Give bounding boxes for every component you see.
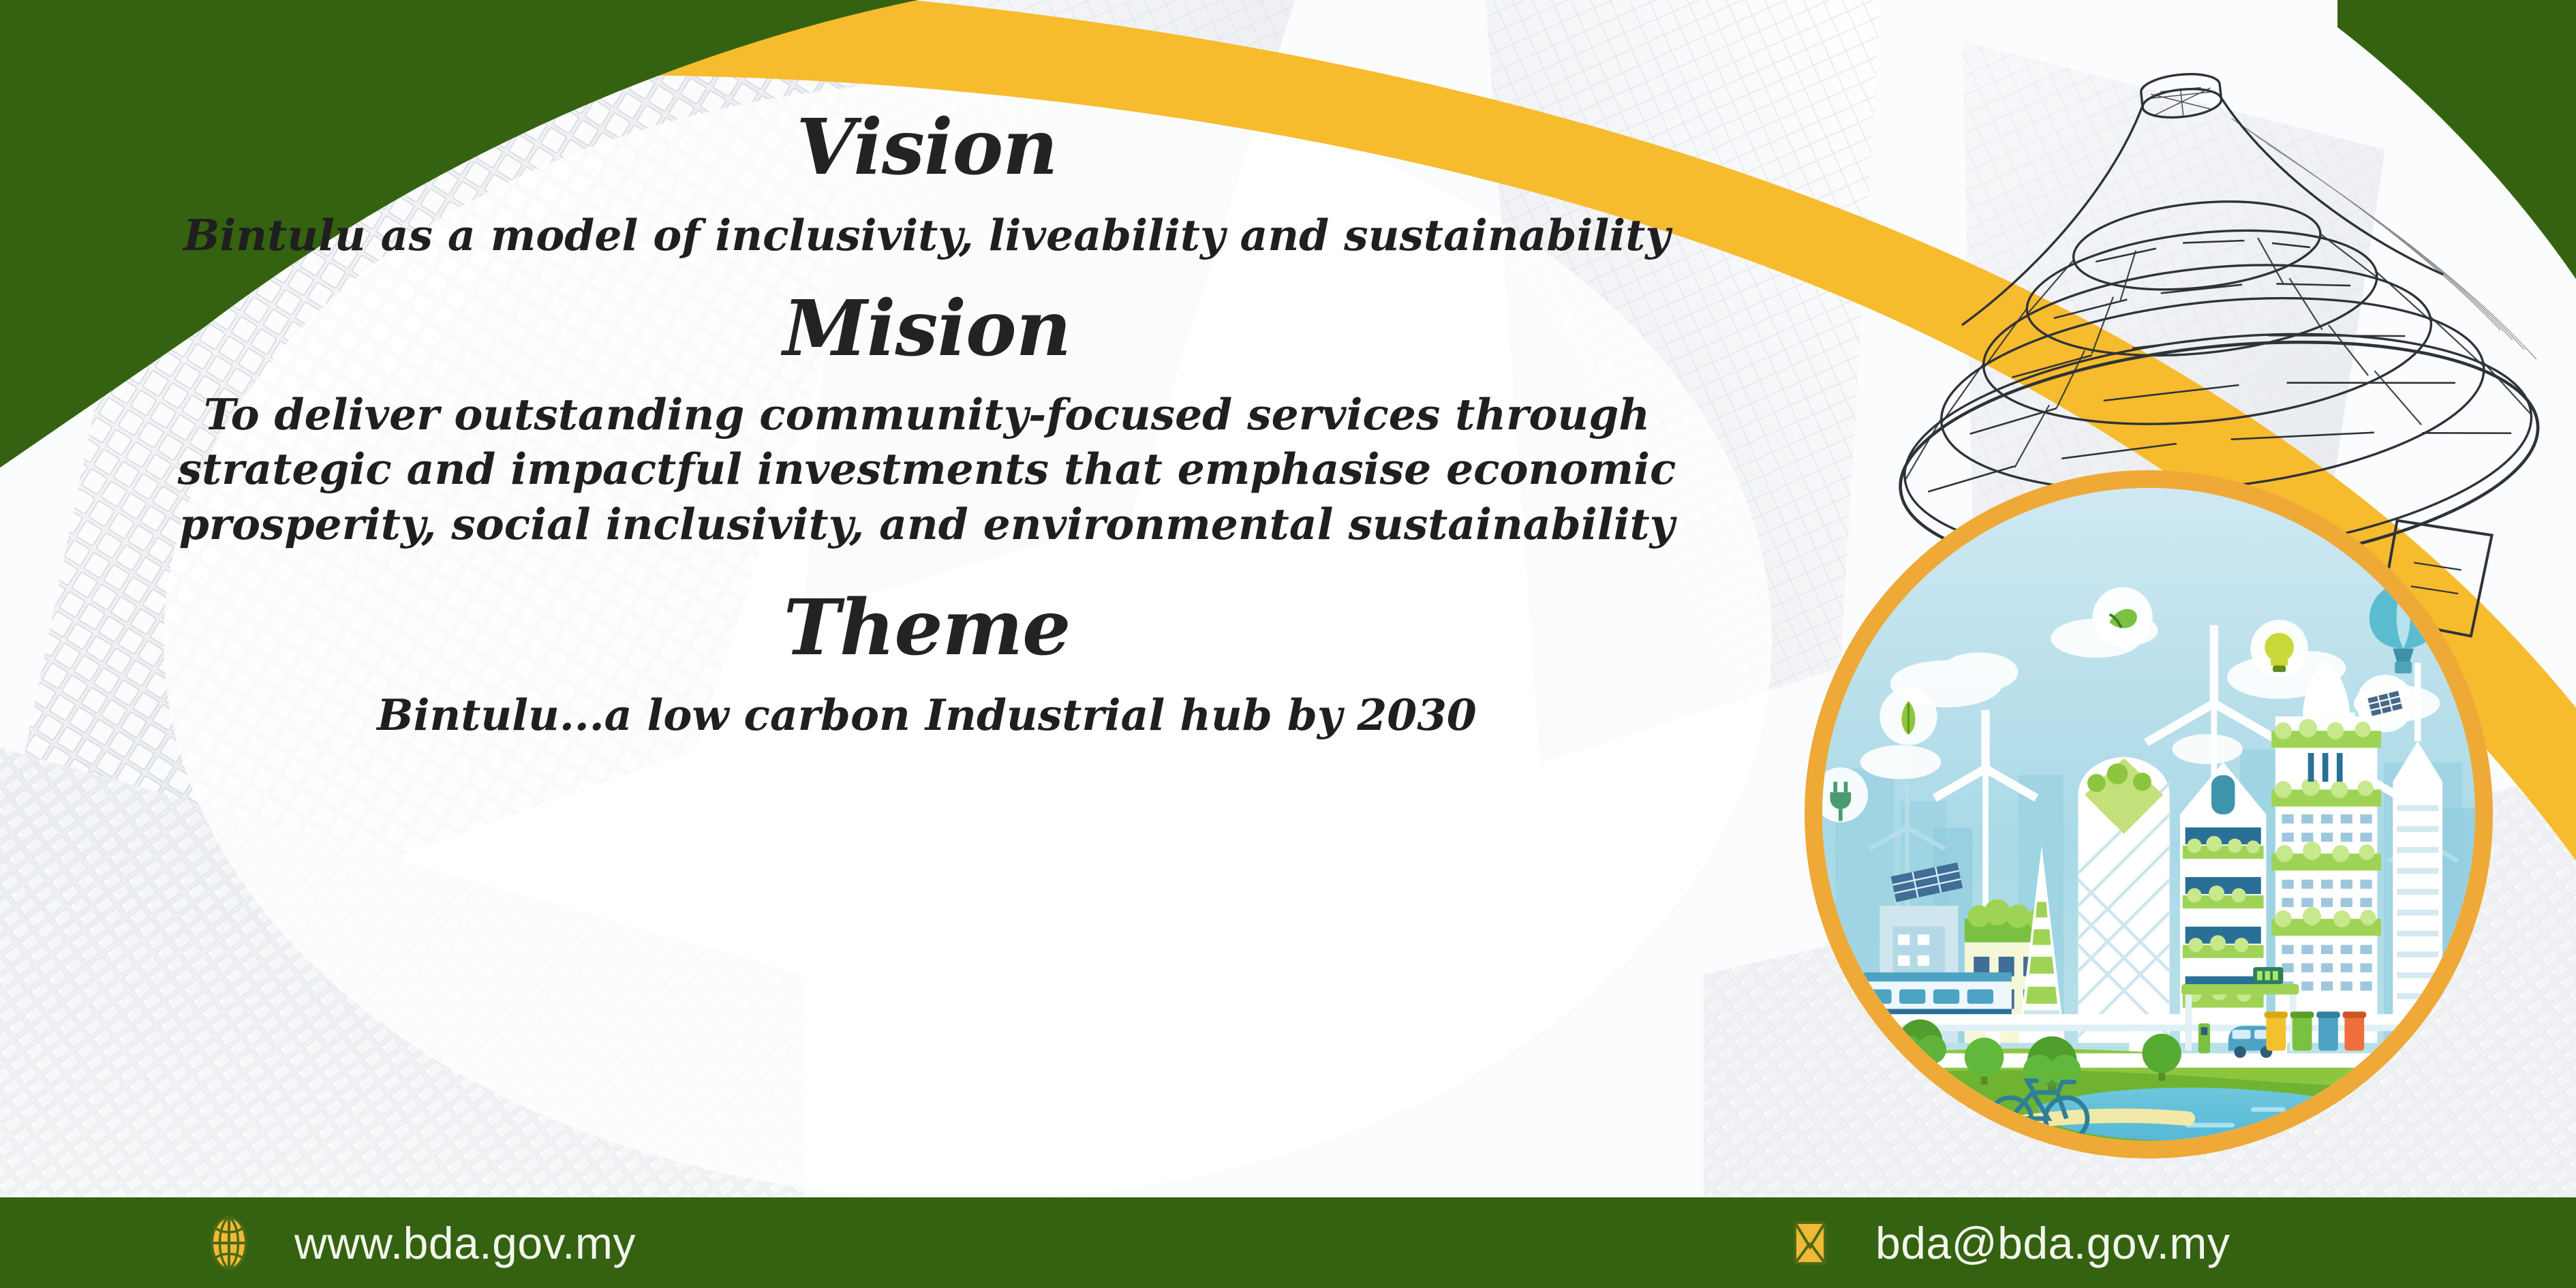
mission-section: Mision To deliver outstanding community-… [0, 286, 1854, 551]
theme-heading: Theme [0, 585, 1854, 671]
theme-statement: Bintulu...a low carbon Industrial hub by… [0, 688, 1854, 743]
website-label: www.bda.gov.my [294, 1217, 636, 1269]
contact-footer: www.bda.gov.my bda@bda.gov.my [0, 1197, 2576, 1288]
green-city-illustration [1805, 470, 2493, 1159]
globe-icon [204, 1216, 254, 1270]
mission-line: To deliver outstanding community-focused… [0, 387, 1854, 442]
bda-vision-mission-banner: Vision Bintulu as a model of inclusivity… [0, 0, 2576, 1288]
mission-statement: To deliver outstanding community-focused… [0, 387, 1854, 552]
vision-section: Vision Bintulu as a model of inclusivity… [0, 105, 1854, 263]
mission-heading: Mision [0, 286, 1854, 371]
vision-statement: Bintulu as a model of inclusivity, livea… [0, 208, 1854, 263]
email-label: bda@bda.gov.my [1875, 1217, 2230, 1269]
email-contact[interactable]: bda@bda.gov.my [1785, 1197, 2230, 1288]
theme-section: Theme Bintulu...a low carbon Industrial … [0, 585, 1854, 742]
envelope-icon [1785, 1216, 1835, 1270]
banner-text-content: Vision Bintulu as a model of inclusivity… [0, 102, 1854, 1111]
mission-line: prosperity, social inclusivity, and envi… [0, 497, 1854, 552]
website-contact[interactable]: www.bda.gov.my [204, 1197, 636, 1288]
mission-line: strategic and impactful investments that… [0, 442, 1854, 497]
vision-heading: Vision [0, 105, 1854, 190]
